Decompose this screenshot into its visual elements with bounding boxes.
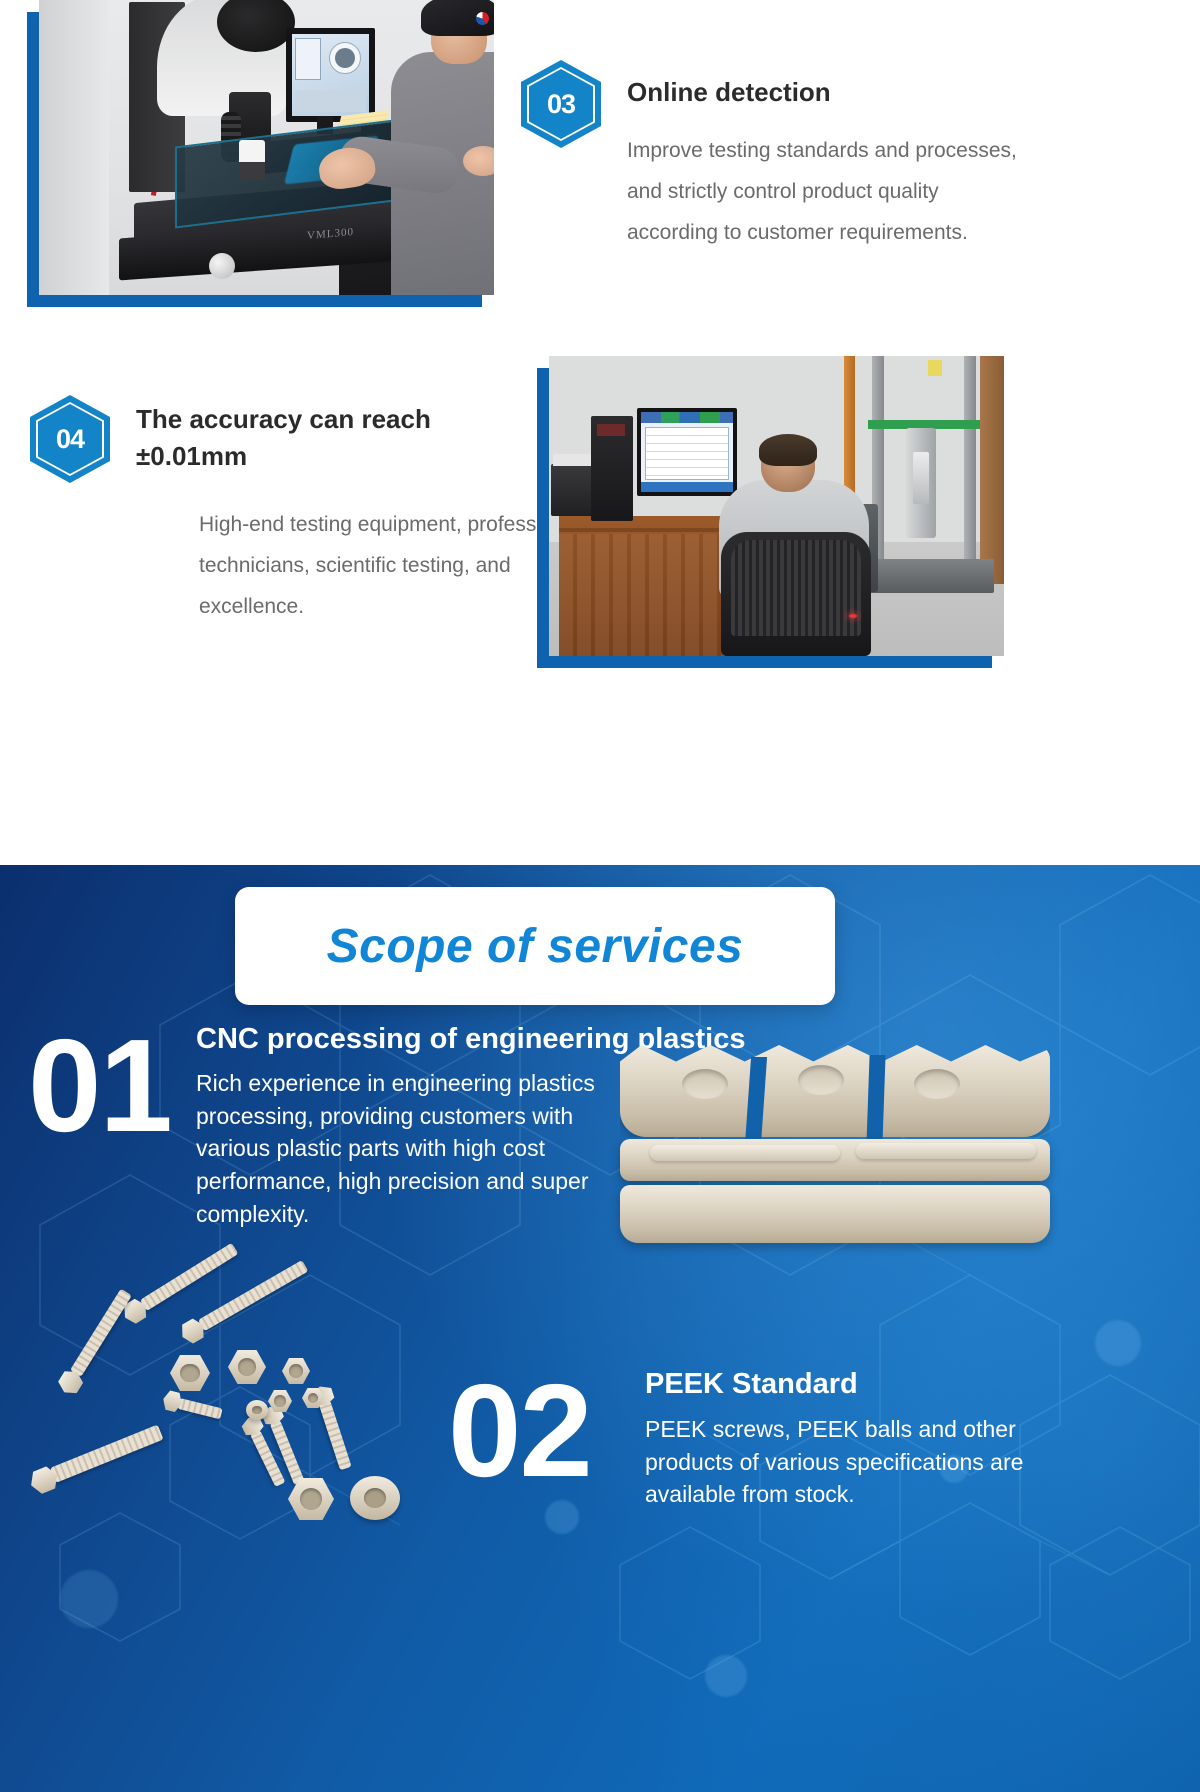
washer-hole [364, 1488, 386, 1507]
screen-panel [295, 38, 321, 80]
scope-title-box: Scope of services [235, 887, 835, 1005]
wall-shadow [39, 0, 109, 295]
chain-plate-gap [866, 1055, 885, 1145]
online-detection-photo: VML300 [27, 12, 482, 307]
screen-strip [295, 90, 366, 112]
chain-plate-rib [856, 1143, 1036, 1159]
feature-block-online-detection: 03 Online detection Improve testing stan… [521, 60, 1081, 254]
scope-item-01: 01 CNC processing of engineering plastic… [0, 1005, 1200, 1305]
peek-nut [228, 1350, 266, 1384]
specimen [239, 140, 265, 180]
office-chair [721, 532, 871, 656]
accuracy-testing-photo [537, 368, 992, 668]
pc-tower [591, 416, 633, 521]
chain-plate-hole [914, 1069, 960, 1099]
hexagon-badge-03: 03 [521, 60, 601, 148]
hexagon-number-text: 04 [30, 395, 110, 483]
nut-hole [180, 1364, 199, 1383]
nut-hole [238, 1358, 256, 1376]
peek-washer [350, 1476, 400, 1520]
operator-hair [759, 434, 817, 466]
monitor [286, 28, 375, 122]
feature-block-accuracy: 04 The accuracy can reach ±0.01mm High-e… [30, 395, 530, 628]
scope-item-02: 02 PEEK Standard PEEK screws, PEEK balls… [0, 1310, 1200, 1790]
scope-body-01: Rich experience in engineering plastics … [196, 1067, 596, 1230]
warning-sticker-icon [928, 360, 942, 376]
peek-chain-plate-product [620, 1035, 1050, 1255]
screen-measurement-circle [329, 42, 361, 74]
chain-plate-rib [650, 1145, 840, 1161]
software-toolbar [641, 412, 733, 423]
nut-hole [300, 1488, 322, 1510]
features-section: VML300 03 Online detection Improve testi… [0, 0, 1200, 865]
feature-title-accuracy: The accuracy can reach ±0.01mm [136, 401, 516, 475]
scope-number-01: 01 [28, 1020, 171, 1152]
bolt-shank [50, 1425, 164, 1483]
testing-room-scene [549, 356, 1004, 656]
hexagon-badge-04: 04 [30, 395, 110, 483]
stage-knob [209, 253, 235, 279]
chain-plate-hole [682, 1069, 728, 1099]
feature-body-online-detection: Improve testing standards and processes,… [627, 131, 1027, 254]
photo-image-accuracy [549, 356, 1004, 656]
peek-nut [282, 1358, 310, 1384]
chain-plate-bottom-band [620, 1185, 1050, 1243]
peek-nut [170, 1355, 210, 1391]
lab-scene: VML300 [39, 0, 494, 295]
operator-cap [421, 0, 494, 36]
chair-mesh-back [731, 540, 861, 636]
photo-image-detection: VML300 [39, 0, 494, 295]
scope-body-02: PEEK screws, PEEK balls and other produc… [645, 1413, 1045, 1511]
machine-column-right [964, 356, 976, 569]
bolt-shank [319, 1400, 352, 1470]
laser-dot [849, 614, 857, 618]
cap-logo-icon [476, 12, 489, 25]
scope-of-services-section: Scope of services 01 CNC processing of e… [0, 865, 1200, 1792]
feature-title-online-detection: Online detection [627, 74, 1027, 111]
bolt-shank [70, 1289, 132, 1377]
chain-plate-hole [798, 1065, 844, 1095]
scope-number-02: 02 [448, 1365, 591, 1497]
bolt-shank [177, 1398, 222, 1419]
peek-fasteners-product [30, 1280, 450, 1580]
washer-hole [252, 1406, 262, 1415]
scope-title-02: PEEK Standard [645, 1368, 858, 1401]
scope-title-text: Scope of services [327, 919, 744, 974]
peek-washer [246, 1400, 268, 1420]
hexagon-number-text: 03 [521, 60, 601, 148]
nut-hole [274, 1395, 286, 1406]
nut-hole [289, 1364, 302, 1378]
monitor-screen [292, 34, 369, 116]
nut-hole [308, 1393, 319, 1403]
machine-grip-assembly [906, 428, 936, 538]
